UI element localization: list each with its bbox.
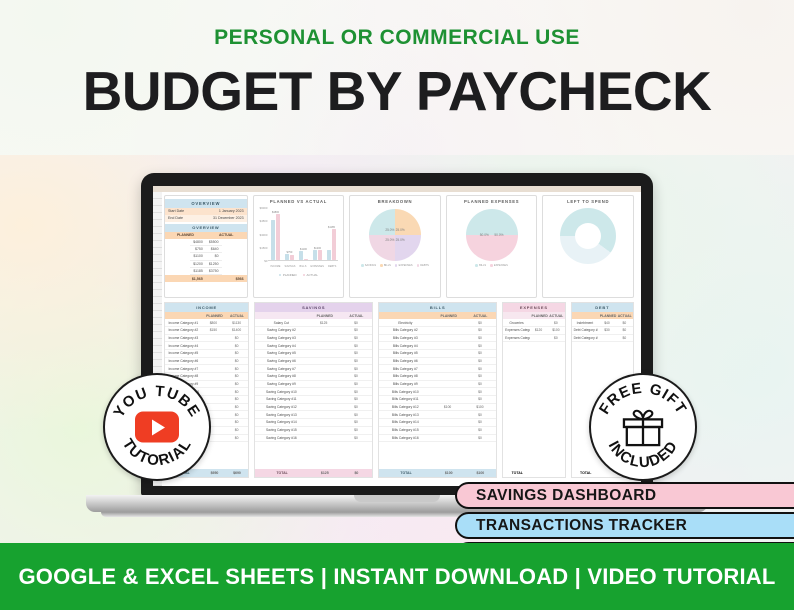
table-row[interactable]: Income Category #3$0: [165, 335, 248, 343]
cell-planned: $40: [598, 319, 615, 326]
table-row[interactable]: Electricity$0: [379, 319, 496, 327]
cell-planned: [307, 419, 339, 426]
cell-category: Saving Category #7: [255, 365, 307, 372]
overview-date-row: Start Date 1 January 2023: [165, 208, 247, 215]
cell-planned: [530, 335, 547, 342]
col-planned: PLANNED: [433, 312, 465, 319]
cell-actual: $0: [464, 427, 496, 434]
bar-planned: [299, 251, 303, 260]
table-row[interactable]: Saving Category #3$0: [255, 335, 372, 343]
cell-planned: [202, 342, 225, 349]
cell-actual: $0: [340, 411, 372, 418]
cell-category: Income Category #2: [165, 327, 202, 334]
col-planned: PLANNED: [309, 312, 341, 319]
cell-category: Bills Category #11: [379, 396, 431, 403]
cell-category: Bills Category #3: [379, 335, 431, 342]
chart-title: PLANNED VS ACTUAL: [270, 199, 327, 204]
cell-planned: [431, 319, 463, 326]
cell-category: Groceries: [503, 319, 530, 326]
table-columns: PLANNEDACTUAL: [379, 312, 496, 319]
table-columns: PLANNEDACTUAL: [503, 312, 564, 319]
pill-debt-dashboard[interactable]: DEBT DASHBOARD: [455, 542, 794, 543]
total-label: TOTAL: [503, 469, 531, 477]
youtube-play-icon: [135, 412, 179, 443]
feature-pill-list: SAVINGS DASHBOARDTRANSACTIONS TRACKERDEB…: [455, 482, 794, 543]
bar-value-label: $1200: [314, 247, 321, 250]
cell-actual: $100: [547, 327, 564, 334]
overview-columns: PLANNED ACTUAL: [165, 232, 247, 239]
cell-actual: $0: [225, 335, 248, 342]
date-label: Start Date: [168, 209, 184, 213]
category-tables: INCOMEPLANNEDACTUALIncome Category #1$80…: [164, 302, 634, 478]
y-tick: $6000: [260, 206, 268, 210]
bar-planned: [285, 254, 289, 260]
table-row[interactable]: Income Category #2$150$1400: [165, 327, 248, 335]
table-row[interactable]: Bills Category #10$0: [379, 388, 496, 396]
pie-legend: SAVINGSBILLSEXPENSESDEBTS: [355, 264, 436, 267]
cell-actual: $1400: [225, 327, 248, 334]
bar-value-label: $750: [287, 251, 293, 254]
cell-planned: $1200: [190, 261, 206, 267]
table-title: BILLS: [379, 303, 496, 312]
table-row[interactable]: Groceries$0: [503, 319, 564, 327]
table-row[interactable]: Expenses Category #3$0: [503, 335, 564, 343]
col-planned: PLANNED: [203, 312, 226, 319]
cell-category: Saving Category #11: [255, 396, 307, 403]
table-row[interactable]: Saving Category #7$0: [255, 365, 372, 373]
cell-category: Saving Category #9: [255, 381, 307, 388]
cell-category: Bills Category #5: [379, 350, 431, 357]
bar-actual: [290, 255, 294, 260]
cell-planned: [202, 358, 225, 365]
cell-actual: $0: [340, 319, 372, 326]
legend-item: ACTUAL: [303, 273, 318, 277]
col-name: [255, 312, 309, 319]
cell-actual: $0: [340, 381, 372, 388]
table-row[interactable]: Saving Category #16$0: [255, 435, 372, 443]
table-row[interactable]: Bills Category #16$0: [379, 435, 496, 443]
cell-actual: $0: [340, 419, 372, 426]
table-row[interactable]: Saving Category #9$0: [255, 381, 372, 389]
header-banner: PERSONAL OR COMMERCIAL USE BUDGET BY PAY…: [0, 0, 794, 155]
cell-planned: [431, 388, 463, 395]
table-total-row: TOTAL: [503, 469, 564, 477]
total-planned: $1,565: [165, 275, 206, 282]
cell-category: Income Category #4: [165, 342, 202, 349]
overview-row: $1200$1250: [190, 261, 221, 268]
cell-category: Bills Category #6: [379, 358, 431, 365]
cell-actual: $0: [225, 396, 248, 403]
table-row[interactable]: Saving Category #10$0: [255, 388, 372, 396]
cell-actual: $0: [225, 427, 248, 434]
cell-actual: $0: [340, 327, 372, 334]
col-actual: ACTUAL: [341, 312, 373, 319]
cell-category: Income Category #6: [165, 358, 202, 365]
cell-actual: $0: [225, 373, 248, 380]
pie-breakdown: 25.0%25.0%25.0%25.0%: [369, 209, 421, 261]
legend-item: DEBTS: [417, 264, 429, 267]
cell-actual: $0: [225, 358, 248, 365]
bar-actual: [332, 229, 336, 260]
cell-category: Saving Category #4: [255, 342, 307, 349]
x-axis-labels: INCOMESAVINGSBILLSEXPENSESDEBTS: [268, 265, 338, 268]
pie-slice-label: 25.0%: [385, 238, 394, 242]
cell-category: Bills Category #15: [379, 427, 431, 434]
chart-title: LEFT TO SPEND: [567, 199, 609, 204]
table-row[interactable]: Saving Category #13$0: [255, 411, 372, 419]
table-row[interactable]: Saving Category #14$0: [255, 419, 372, 427]
cell-actual: $0: [340, 396, 372, 403]
column-header-planned: PLANNED: [165, 232, 206, 239]
cell-actual: $1250: [206, 261, 222, 267]
cell-category: Saving Category #15: [255, 427, 307, 434]
col-actual: ACTUAL: [616, 312, 633, 319]
total-planned: $100: [433, 469, 465, 477]
cell-actual: $0: [225, 388, 248, 395]
bar-group: $4800: [271, 214, 280, 260]
cell-actual: $0: [225, 404, 248, 411]
cell-category: Bills Category #8: [379, 373, 431, 380]
pie-slice-label: 25.0%: [385, 228, 394, 232]
x-tick: BILLS: [300, 265, 307, 268]
col-name: [165, 312, 203, 319]
total-label: TOTAL: [255, 469, 309, 477]
cell-actual: $0: [340, 365, 372, 372]
col-name: [503, 312, 531, 319]
cell-planned: $1100: [190, 253, 206, 259]
cell-planned: [431, 342, 463, 349]
table-row[interactable]: Bills Category #11$0: [379, 396, 496, 404]
x-tick: SAVINGS: [285, 265, 296, 268]
breakdown-chart: BREAKDOWN 25.0%25.0%25.0%25.0% SAVINGSBI…: [349, 195, 441, 298]
table-row[interactable]: Income Category #5$0: [165, 350, 248, 358]
table-row[interactable]: Bills Category #12$100$100: [379, 404, 496, 412]
cell-actual: $0: [206, 253, 222, 259]
y-tick: $3000: [260, 233, 268, 237]
cell-category: Income Category #3: [165, 335, 202, 342]
cell-actual: $5500: [206, 239, 222, 245]
cell-category: Expenses Category #2: [503, 327, 530, 334]
bar-chart-area: $6000$4500$3000$1500$0 $4800$750$1100$12…: [256, 206, 340, 272]
cell-category: Saving Category #13: [255, 411, 307, 418]
cell-category: Salary Cut: [255, 319, 307, 326]
table-row[interactable]: Income Category #4$0: [165, 342, 248, 350]
bar-group: $1185: [327, 229, 336, 260]
bar-group: $1200: [313, 250, 322, 260]
cell-category: Saving Category #12: [255, 404, 307, 411]
cell-planned: [307, 350, 339, 357]
overview-panel: OVERVIEW Start Date 1 January 2023 End D…: [164, 195, 248, 298]
cell-actual: $0: [464, 411, 496, 418]
cell-planned: [307, 411, 339, 418]
cell-category: Bills Category #2: [379, 327, 431, 334]
cell-actual: $0: [225, 435, 248, 442]
cell-actual: $0: [464, 373, 496, 380]
x-tick: DEBTS: [328, 265, 336, 268]
pie-slice-label: 50.0%: [494, 233, 503, 237]
bar-group: $1100: [299, 251, 308, 260]
table-columns: PLANNEDACTUAL: [255, 312, 372, 319]
cell-planned: [431, 435, 463, 442]
cell-category: Saving Category #8: [255, 373, 307, 380]
overview-title: OVERVIEW: [165, 199, 247, 208]
col-planned: PLANNED: [600, 312, 617, 319]
cell-actual: $0: [464, 335, 496, 342]
table-row[interactable]: Bills Category #13$0: [379, 411, 496, 419]
table-row[interactable]: Saving Category #15$0: [255, 427, 372, 435]
total-actual: $566: [206, 275, 247, 282]
bar-planned: [327, 250, 331, 260]
table-title: SAVINGS: [255, 303, 372, 312]
cell-actual: $0: [225, 419, 248, 426]
table-savings: SAVINGSPLANNEDACTUALSalary Cut$125$0Savi…: [254, 302, 373, 478]
table-row[interactable]: Bills Category #7$0: [379, 365, 496, 373]
table-row[interactable]: Bills Category #14$0: [379, 419, 496, 427]
pie-slice-label: 25.0%: [396, 238, 405, 242]
cell-category: Indebtment: [572, 319, 599, 326]
total-planned: $125: [309, 469, 341, 477]
cell-actual: $0: [225, 365, 248, 372]
cell-planned: $30: [598, 327, 615, 334]
table-row[interactable]: Income Category #6$0: [165, 358, 248, 366]
cell-planned: [431, 365, 463, 372]
gift-box-icon: [622, 407, 664, 447]
overview-date-row: End Date 31 December 2023: [165, 215, 247, 222]
table-row[interactable]: Bills Category #5$0: [379, 350, 496, 358]
cell-planned: [431, 381, 463, 388]
x-tick: EXPENSES: [310, 265, 323, 268]
bar-planned: [313, 250, 317, 260]
left-to-spend-chart: LEFT TO SPEND: [542, 195, 634, 298]
overview-row: $4800$5500: [190, 239, 221, 246]
cell-category: Bills Category #7: [379, 365, 431, 372]
col-name: [379, 312, 433, 319]
cell-actual: $640: [206, 246, 222, 252]
play-triangle: [152, 419, 165, 435]
cell-category: Bills Category #10: [379, 388, 431, 395]
cell-actual: $0: [464, 358, 496, 365]
total-label: TOTAL: [379, 469, 433, 477]
donut-hole: [575, 223, 601, 249]
cell-actual: $0: [464, 327, 496, 334]
cell-planned: [530, 319, 547, 326]
table-columns: PLANNEDACTUAL: [572, 312, 633, 319]
cell-planned: [431, 350, 463, 357]
cell-planned: [307, 373, 339, 380]
y-tick: $0: [264, 259, 267, 263]
cell-actual: $0: [464, 342, 496, 349]
cell-planned: [431, 396, 463, 403]
cell-category: Debt Category #3: [572, 335, 599, 342]
table-total-row: TOTAL$125$0: [255, 469, 372, 477]
y-axis-ticks: $6000$4500$3000$1500$0: [256, 208, 268, 261]
overview-row: $1100$0: [190, 253, 221, 260]
cell-actual: $0: [464, 388, 496, 395]
product-stage: OVERVIEW Start Date 1 January 2023 End D…: [0, 155, 794, 543]
cell-planned: $4800: [190, 239, 206, 245]
cell-planned: [307, 435, 339, 442]
table-body: Groceries$0Expenses Category #2$120$100E…: [503, 319, 564, 469]
youtube-tutorial-badge[interactable]: YOU TUBE TUTORIAL: [103, 373, 211, 481]
cell-planned: [307, 381, 339, 388]
cell-planned: [431, 327, 463, 334]
y-tick: $1500: [260, 246, 268, 250]
table-row[interactable]: Income Category #7$0: [165, 365, 248, 373]
cell-planned: [307, 427, 339, 434]
table-row[interactable]: Saving Category #8$0: [255, 373, 372, 381]
table-row[interactable]: Debt Category #3$0: [572, 335, 633, 343]
table-row[interactable]: Bills Category #6$0: [379, 358, 496, 366]
table-row[interactable]: Saving Category #2$0: [255, 327, 372, 335]
total-actual: $100: [465, 469, 497, 477]
pie-slice-label: 50.0%: [480, 233, 489, 237]
table-row[interactable]: Bills Category #2$0: [379, 327, 496, 335]
table-row[interactable]: Indebtment$40$0: [572, 319, 633, 327]
col-actual: ACTUAL: [465, 312, 497, 319]
table-row[interactable]: Bills Category #8$0: [379, 373, 496, 381]
cell-planned: [431, 358, 463, 365]
legend-item: SAVINGS: [361, 264, 376, 267]
page-title: BUDGET BY PAYCHECK: [83, 64, 712, 119]
cell-actual: $0: [616, 319, 633, 326]
cell-actual: $0: [225, 381, 248, 388]
cell-category: Expenses Category #3: [503, 335, 530, 342]
cell-planned: [202, 350, 225, 357]
laptop-screen: OVERVIEW Start Date 1 January 2023 End D…: [153, 186, 641, 486]
footer-text: GOOGLE & EXCEL SHEETS | INSTANT DOWNLOAD…: [18, 564, 775, 590]
table-row[interactable]: Saving Category #11$0: [255, 396, 372, 404]
plot-area: $4800$750$1100$1200$1185: [268, 209, 338, 261]
bar-value-label: $4800: [272, 211, 279, 214]
date-value: 1 January 2023: [219, 209, 244, 213]
cell-planned: [307, 365, 339, 372]
table-row[interactable]: Salary Cut$125$0: [255, 319, 372, 327]
cell-planned: [431, 335, 463, 342]
table-row[interactable]: Debt Category #2$30$0: [572, 327, 633, 335]
cell-actual: $0: [340, 342, 372, 349]
cell-planned: [202, 335, 225, 342]
cell-category: Bills Category #13: [379, 411, 431, 418]
planned-expenses-chart: PLANNED EXPENSES 50.0%50.0% BILLSEXPENSE…: [446, 195, 538, 298]
total-actual: $0: [341, 469, 373, 477]
legend-item: PLANNED: [279, 273, 297, 277]
cell-planned: $100: [431, 404, 463, 411]
cell-planned: $800: [202, 319, 225, 326]
cell-planned: $1185: [190, 268, 206, 274]
table-row[interactable]: Bills Category #15$0: [379, 427, 496, 435]
spreadsheet-canvas: OVERVIEW Start Date 1 January 2023 End D…: [153, 186, 641, 486]
free-gift-badge[interactable]: FREE GIFT INCLUDED: [589, 373, 697, 481]
laptop-notch: [354, 495, 440, 502]
bar-actual: [318, 250, 322, 260]
chart-legend: PLANNEDACTUAL: [279, 273, 318, 277]
table-row[interactable]: Saving Category #12$0: [255, 404, 372, 412]
cell-planned: [307, 358, 339, 365]
dashboard-panels: OVERVIEW Start Date 1 January 2023 End D…: [164, 195, 634, 298]
bar-planned: [271, 220, 275, 260]
planned-vs-actual-chart: PLANNED VS ACTUAL $6000$4500$3000$1500$0…: [253, 195, 345, 298]
cell-planned: [431, 373, 463, 380]
table-row[interactable]: Expenses Category #2$120$100: [503, 327, 564, 335]
cell-planned: [598, 335, 615, 342]
table-row[interactable]: Income Category #1$800$1130: [165, 319, 248, 327]
cell-actual: $0: [464, 350, 496, 357]
cell-planned: [431, 427, 463, 434]
pie-planned-expenses: 50.0%50.0%: [466, 209, 518, 261]
pill-savings-dashboard[interactable]: SAVINGS DASHBOARD: [455, 482, 794, 509]
cell-actual: $0: [464, 365, 496, 372]
cell-planned: $120: [530, 327, 547, 334]
sheet-toolbar: [153, 186, 641, 192]
pill-transactions-tracker[interactable]: TRANSACTIONS TRACKER: [455, 512, 794, 539]
col-name: [572, 312, 600, 319]
overview-row: $750$640: [190, 246, 221, 253]
cell-actual: $100: [464, 404, 496, 411]
chart-title: PLANNED EXPENSES: [464, 199, 519, 204]
table-row[interactable]: Saving Category #5$0: [255, 350, 372, 358]
cell-actual: $0: [616, 335, 633, 342]
table-row[interactable]: Saving Category #6$0: [255, 358, 372, 366]
column-header-actual: ACTUAL: [206, 232, 247, 239]
cell-actual: $0: [225, 342, 248, 349]
table-expenses: EXPENSESPLANNEDACTUALGroceries$0Expenses…: [502, 302, 565, 478]
poster-root: PERSONAL OR COMMERCIAL USE BUDGET BY PAY…: [0, 0, 794, 610]
table-row[interactable]: Saving Category #4$0: [255, 342, 372, 350]
cell-category: Bills Category #9: [379, 381, 431, 388]
date-value: 31 December 2023: [213, 216, 244, 220]
cell-category: Saving Category #5: [255, 350, 307, 357]
overview-total-row: $1,565 $566: [165, 275, 247, 282]
legend-item: BILLS: [475, 264, 486, 267]
cell-planned: [307, 335, 339, 342]
cell-actual: $0: [464, 396, 496, 403]
cell-actual: $0: [464, 381, 496, 388]
table-body: Salary Cut$125$0Saving Category #2$0Savi…: [255, 319, 372, 469]
table-row[interactable]: Bills Category #3$0: [379, 335, 496, 343]
cell-actual: $0: [225, 411, 248, 418]
table-row[interactable]: Bills Category #4$0: [379, 342, 496, 350]
overview-rows: $4800$5500$750$640$1100$0$1200$1250$1185…: [190, 239, 221, 276]
legend-item: BILLS: [380, 264, 391, 267]
x-tick: INCOME: [270, 265, 280, 268]
legend-item: EXPENSES: [395, 264, 413, 267]
cell-category: Saving Category #14: [255, 419, 307, 426]
table-row[interactable]: Bills Category #9$0: [379, 381, 496, 389]
chart-title: BREAKDOWN: [378, 199, 412, 204]
cell-planned: [307, 388, 339, 395]
donut-left-to-spend: [560, 208, 616, 264]
bar-groups: $4800$750$1100$1200$1185: [268, 209, 338, 260]
cell-category: Saving Category #6: [255, 358, 307, 365]
cell-planned: [431, 419, 463, 426]
cell-planned: [307, 327, 339, 334]
pie-slice-label: 25.0%: [396, 228, 405, 232]
cell-category: Income Category #5: [165, 350, 202, 357]
col-actual: ACTUAL: [548, 312, 565, 319]
cell-actual: $0: [340, 350, 372, 357]
cell-actual: $0: [340, 358, 372, 365]
cell-category: Bills Category #16: [379, 435, 431, 442]
cell-category: Bills Category #4: [379, 342, 431, 349]
table-body: Electricity$0Bills Category #2$0Bills Ca…: [379, 319, 496, 469]
cell-category: Income Category #7: [165, 365, 202, 372]
cell-planned: [431, 411, 463, 418]
table-title: EXPENSES: [503, 303, 564, 312]
cell-actual: $0: [616, 327, 633, 334]
cell-planned: $125: [307, 319, 339, 326]
date-label: End Date: [168, 216, 183, 220]
bar-value-label: $1100: [300, 248, 307, 251]
